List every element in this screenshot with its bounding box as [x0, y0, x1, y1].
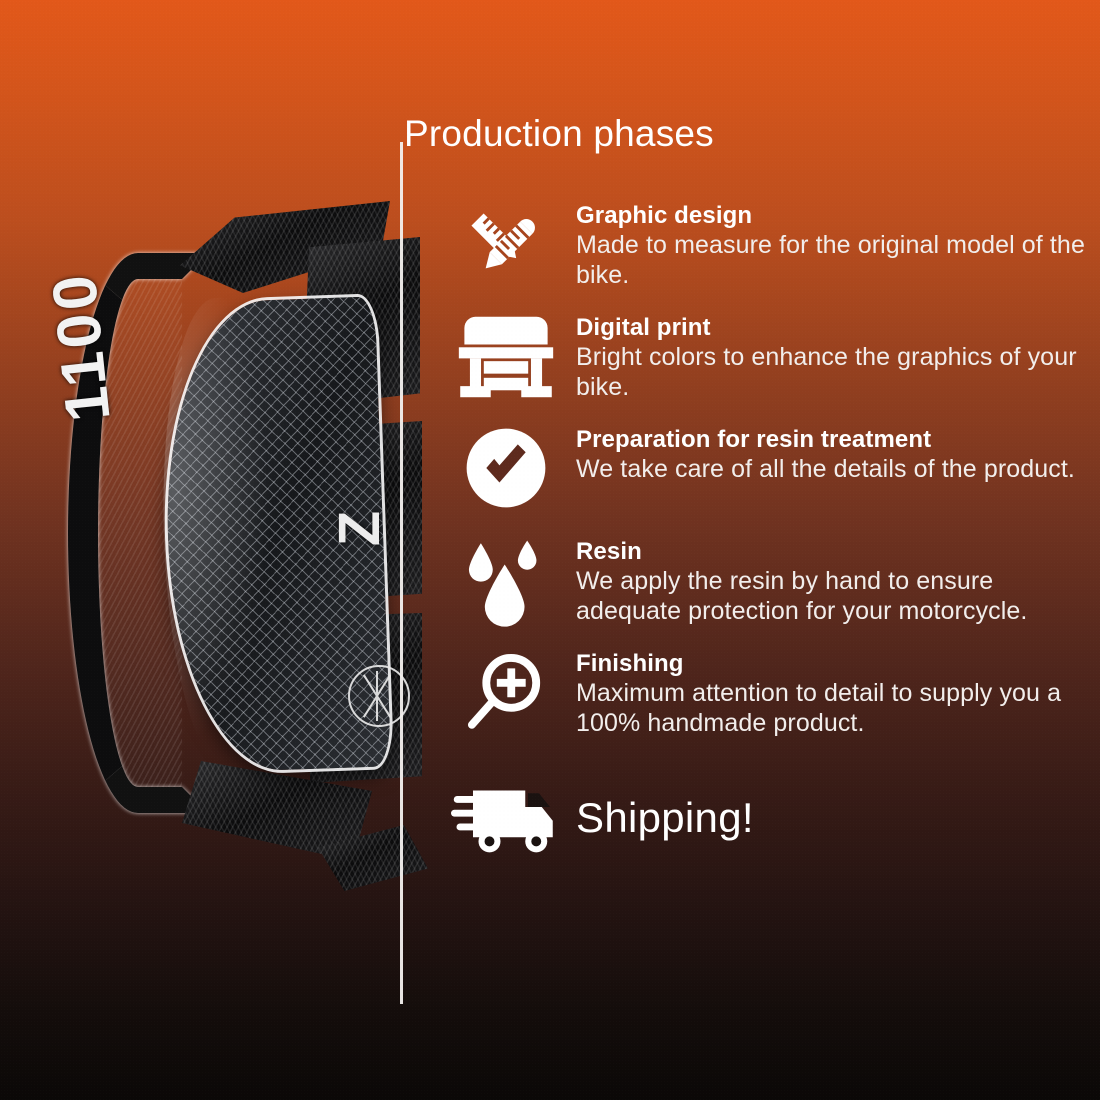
- phase-list: Graphic design Made to measure for the o…: [436, 200, 1096, 874]
- phase-item-resin: Resin We apply the resin by hand to ensu…: [436, 536, 1096, 634]
- phase-text-preparation: Preparation for resin treatment We take …: [576, 424, 1096, 485]
- phase-description: Maximum attention to detail to supply yo…: [576, 679, 1096, 738]
- phase-description: Bright colors to enhance the graphics of…: [576, 343, 1096, 402]
- product-mark-letter: Z: [326, 511, 393, 546]
- phase-title: Graphic design: [576, 202, 1096, 230]
- tuning-fork-stem: [376, 671, 378, 721]
- vertical-divider: [400, 142, 403, 1004]
- phase-item-finishing: Finishing Maximum attention to detail to…: [436, 648, 1096, 746]
- page-title: Production phases: [404, 113, 714, 155]
- phase-text-finishing: Finishing Maximum attention to detail to…: [576, 648, 1096, 738]
- water-drops-icon: [436, 536, 576, 634]
- phase-item-preparation: Preparation for resin treatment We take …: [436, 424, 1096, 522]
- phase-text-shipping: Shipping!: [576, 792, 1096, 842]
- phase-text-graphic-design: Graphic design Made to measure for the o…: [576, 200, 1096, 290]
- phase-title: Resin: [576, 538, 1096, 566]
- check-circle-icon: [436, 424, 576, 522]
- phase-text-digital-print: Digital print Bright colors to enhance t…: [576, 312, 1096, 402]
- delivery-truck-icon: [436, 774, 576, 860]
- phase-description: Made to measure for the original model o…: [576, 231, 1096, 290]
- phase-item-graphic-design: Graphic design Made to measure for the o…: [436, 200, 1096, 298]
- phase-text-resin: Resin We apply the resin by hand to ensu…: [576, 536, 1096, 626]
- phase-title: Digital print: [576, 314, 1096, 342]
- phase-description: We apply the resin by hand to ensure ade…: [576, 567, 1096, 626]
- phase-description: We take care of all the details of the p…: [576, 455, 1096, 484]
- poster-canvas: 1100 Z Production phases: [0, 0, 1100, 1100]
- product-artwork: 1100 Z: [60, 195, 420, 875]
- phase-title: Preparation for resin treatment: [576, 426, 1096, 454]
- plotter-printer-icon: [436, 312, 576, 410]
- phase-item-digital-print: Digital print Bright colors to enhance t…: [436, 312, 1096, 410]
- phase-item-shipping: Shipping!: [436, 774, 1096, 860]
- shipping-label: Shipping!: [576, 794, 754, 841]
- pencil-ruler-icon: [436, 200, 576, 298]
- phase-title: Finishing: [576, 650, 1096, 678]
- magnifier-plus-icon: [436, 648, 576, 746]
